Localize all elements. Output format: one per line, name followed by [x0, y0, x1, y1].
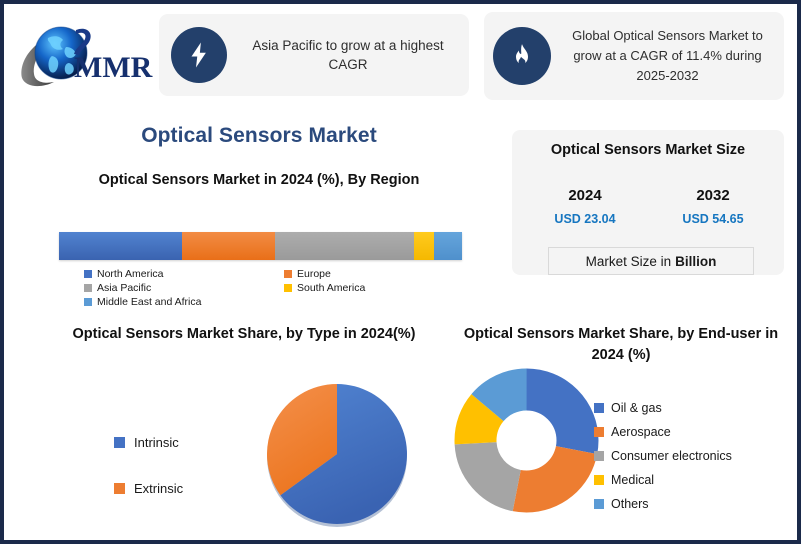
legend-swatch-orange [114, 483, 125, 494]
legend-swatch-gray [84, 284, 92, 292]
legend-swatch-blue [114, 437, 125, 448]
market-size-unit-prefix: Market Size in [586, 254, 672, 269]
legend-label: Aerospace [611, 425, 671, 439]
legend-label: Asia Pacific [97, 282, 151, 294]
market-size-year: 2024 [526, 187, 644, 204]
type-legend: Intrinsic Extrinsic [114, 419, 264, 511]
region-stacked-bar [59, 232, 462, 260]
market-size-2032: 2032 USD 54.65 [654, 187, 772, 226]
legend-item-aerospace: Aerospace [594, 420, 794, 444]
legend-swatch-orange [594, 427, 604, 437]
market-size-value: USD 54.65 [654, 212, 772, 226]
legend-swatch-lightblue [594, 499, 604, 509]
legend-item-north-america: North America [84, 268, 284, 280]
enduser-donut-chart [454, 368, 599, 513]
legend-swatch-blue [594, 403, 604, 413]
legend-swatch-yellow [284, 284, 292, 292]
legend-swatch-gray [594, 451, 604, 461]
legend-item-intrinsic: Intrinsic [114, 419, 264, 465]
legend-label: Middle East and Africa [97, 296, 201, 308]
region-chart-title: Optical Sensors Market in 2024 (%), By R… [24, 172, 494, 188]
legend-item-oil-and-gas: Oil & gas [594, 396, 794, 420]
bar-segment-europe [182, 232, 275, 260]
legend-label: South America [297, 282, 365, 294]
market-size-title: Optical Sensors Market Size [512, 142, 784, 158]
legend-label: Europe [297, 268, 331, 280]
legend-label: Extrinsic [134, 481, 183, 496]
header-card-global-cagr: Global Optical Sensors Market to grow at… [484, 12, 784, 100]
mmr-logo: MMR [14, 10, 154, 98]
svg-text:MMR: MMR [74, 51, 153, 84]
header-card-asia-pacific: Asia Pacific to grow at a highest CAGR [159, 14, 469, 96]
enduser-legend: Oil & gas Aerospace Consumer electronics… [594, 396, 794, 516]
bar-segment-middle-east-and-africa [434, 232, 462, 260]
legend-item-europe: Europe [284, 268, 484, 280]
bar-segment-south-america [414, 232, 434, 260]
legend-item-consumer-electronics: Consumer electronics [594, 444, 794, 468]
legend-label: Consumer electronics [611, 449, 732, 463]
legend-label: Oil & gas [611, 401, 662, 415]
header: MMR Asia Pacific to grow at a highest CA… [4, 4, 797, 106]
market-size-year: 2032 [654, 187, 772, 204]
legend-item-medical: Medical [594, 468, 794, 492]
enduser-chart-title: Optical Sensors Market Share, by End-use… [456, 324, 786, 366]
region-legend: North America Europe Asia Pacific South … [84, 267, 484, 309]
header-card-text: Global Optical Sensors Market to grow at… [551, 26, 784, 86]
lightning-bolt-icon [171, 27, 227, 83]
market-size-unit-box: Market Size in Billion [548, 247, 754, 275]
bar-segment-asia-pacific [275, 232, 414, 260]
type-chart-title: Optical Sensors Market Share, by Type in… [34, 324, 454, 345]
legend-swatch-orange [284, 270, 292, 278]
legend-item-asia-pacific: Asia Pacific [84, 282, 284, 294]
market-size-unit-value: Billion [675, 254, 716, 269]
flame-icon [493, 27, 551, 85]
legend-swatch-yellow [594, 475, 604, 485]
legend-label: Others [611, 497, 649, 511]
market-size-panel: Optical Sensors Market Size 2024 USD 23.… [512, 130, 784, 275]
infographic-canvas: MMR Asia Pacific to grow at a highest CA… [0, 0, 801, 544]
legend-label: North America [97, 268, 164, 280]
market-size-2024: 2024 USD 23.04 [526, 187, 644, 226]
page-title: Optical Sensors Market [24, 124, 494, 148]
legend-item-others: Others [594, 492, 794, 516]
legend-item-middle-east-and-africa: Middle East and Africa [84, 296, 284, 308]
type-pie-chart [257, 374, 417, 534]
legend-item-extrinsic: Extrinsic [114, 465, 264, 511]
market-size-value: USD 23.04 [526, 212, 644, 226]
legend-item-south-america: South America [284, 282, 484, 294]
bar-segment-north-america [59, 232, 182, 260]
mmr-logo-icon: MMR [14, 10, 154, 98]
legend-label: Intrinsic [134, 435, 179, 450]
header-card-text: Asia Pacific to grow at a highest CAGR [227, 36, 469, 74]
legend-swatch-blue [84, 270, 92, 278]
legend-swatch-lightblue [84, 298, 92, 306]
legend-label: Medical [611, 473, 654, 487]
